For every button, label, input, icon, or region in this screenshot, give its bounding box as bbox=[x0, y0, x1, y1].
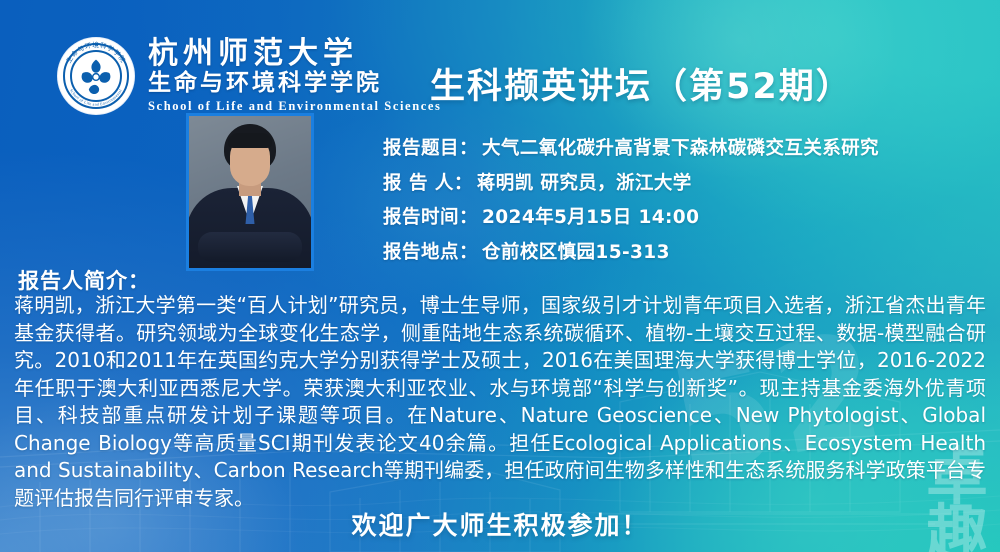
footer-invitation: 欢迎广大师生积极参加！ bbox=[0, 506, 1000, 542]
bio-text: 蒋明凯，浙江大学第一类“百人计划”研究员，博士生导师，国家级引才计划青年项目入选… bbox=[14, 292, 986, 512]
info-value-topic: 大气二氧化碳升高背景下森林碳磷交互关系研究 bbox=[482, 134, 879, 160]
seminar-poster: 52 卓 趣 bbox=[0, 0, 1000, 552]
info-value-location: 仓前校区慎园15-313 bbox=[482, 238, 670, 264]
page-title: 生科撷英讲坛（第52期） bbox=[430, 58, 853, 109]
university-name-cn: 杭州师范大学 bbox=[148, 38, 442, 70]
school-name-block: 杭州师范大学 生命与环境科学学院 School of Life and Envi… bbox=[148, 38, 442, 113]
info-row: 报告题目： 大气二氧化碳升高背景下森林碳磷交互关系研究 bbox=[383, 134, 879, 160]
poster-header: 生命与环境科学学院 School of Life and Environment… bbox=[58, 38, 442, 114]
info-label-location: 报告地点： bbox=[383, 238, 478, 264]
university-emblem-icon: 生命与环境科学学院 School of Life and Environment… bbox=[58, 38, 134, 114]
bio-heading: 报告人简介： bbox=[18, 265, 150, 295]
speaker-portrait bbox=[186, 113, 314, 271]
emblem-arc-text: 生命与环境科学学院 School of Life and Environment… bbox=[58, 38, 134, 114]
info-label-time: 报告时间： bbox=[383, 203, 478, 229]
info-row: 报告地点： 仓前校区慎园15-313 bbox=[383, 238, 879, 264]
info-row: 报 告 人： 蒋明凯 研究员，浙江大学 bbox=[383, 169, 879, 195]
seminar-info-block: 报告题目： 大气二氧化碳升高背景下森林碳磷交互关系研究 报 告 人： 蒋明凯 研… bbox=[383, 134, 879, 272]
college-name-en: School of Life and Environmental Science… bbox=[148, 99, 442, 114]
info-value-time: 2024年5月15日 14:00 bbox=[482, 203, 699, 229]
info-row: 报告时间： 2024年5月15日 14:00 bbox=[383, 203, 879, 229]
college-name-cn: 生命与环境科学学院 bbox=[148, 71, 442, 97]
info-value-speaker: 蒋明凯 研究员，浙江大学 bbox=[477, 169, 692, 195]
svg-text:School of Life and Environment: School of Life and Environmental bbox=[69, 88, 123, 107]
svg-text:生命与环境科学学院: 生命与环境科学学院 bbox=[64, 40, 128, 64]
info-label-topic: 报告题目： bbox=[383, 134, 478, 160]
info-label-speaker: 报 告 人： bbox=[383, 169, 473, 195]
